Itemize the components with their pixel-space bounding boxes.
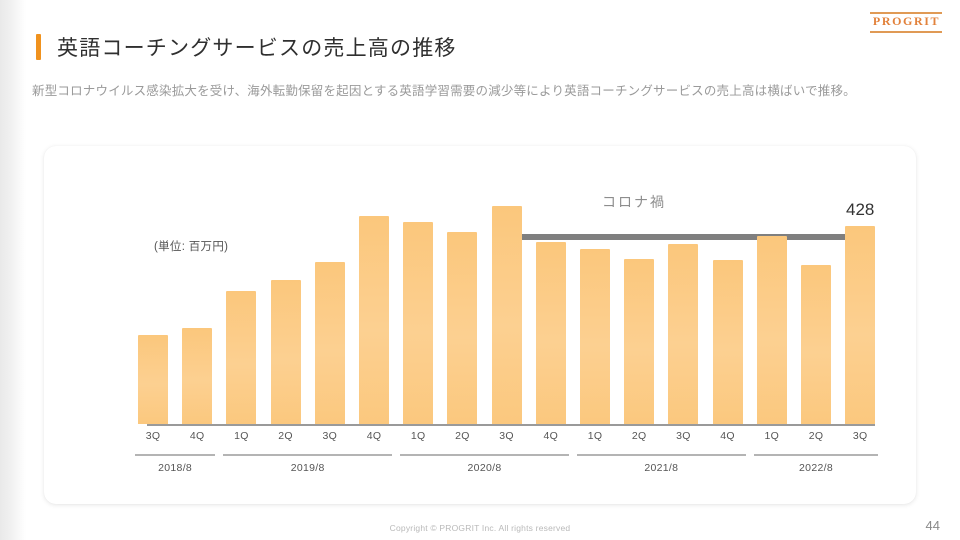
- x-axis-quarter-label: 1Q: [764, 430, 779, 442]
- x-axis-quarter-label: 4Q: [367, 430, 382, 442]
- x-axis-quarter-label: 3Q: [146, 430, 161, 442]
- chart-bar: [182, 328, 212, 424]
- fiscal-year-group-rule: [400, 454, 569, 456]
- x-axis-quarter-label: 2Q: [632, 430, 647, 442]
- x-axis-quarter-label: 3Q: [499, 430, 514, 442]
- sales-bar-chart: (単位: 百万円) コロナ禍 3Q4Q1Q2Q3Q4Q1Q2Q3Q4Q1Q2Q3…: [44, 146, 916, 504]
- x-axis-quarter-label: 3Q: [322, 430, 337, 442]
- chart-bar: [713, 260, 743, 424]
- x-axis-quarter-label: 4Q: [543, 430, 558, 442]
- chart-bar: [447, 232, 477, 424]
- x-axis-quarter-label: 3Q: [853, 430, 868, 442]
- chart-bar: [801, 265, 831, 424]
- fiscal-year-group-rule: [754, 454, 879, 456]
- x-axis-quarter-label: 4Q: [720, 430, 735, 442]
- fiscal-year-group-rule: [577, 454, 746, 456]
- chart-bar: [492, 206, 522, 424]
- chart-bar: [624, 259, 654, 424]
- fiscal-year-group-label: 2019/8: [291, 462, 325, 474]
- chart-bar: [403, 222, 433, 424]
- page-number: 44: [926, 518, 940, 533]
- bar-value-label: 428: [846, 200, 874, 220]
- chart-bar: [226, 291, 256, 424]
- chart-bar: [580, 249, 610, 424]
- logo-rule-bottom: [870, 31, 942, 33]
- chart-bar: [536, 242, 566, 424]
- x-axis-quarter-label: 1Q: [234, 430, 249, 442]
- x-axis-quarter-label: 4Q: [190, 430, 205, 442]
- x-axis-quarter-label: 2Q: [278, 430, 293, 442]
- chart-plot-area: 3Q4Q1Q2Q3Q4Q1Q2Q3Q4Q1Q2Q3Q4Q1Q2Q4283Q201…: [44, 146, 916, 504]
- fiscal-year-group-label: 2022/8: [799, 462, 833, 474]
- page-title-row: 英語コーチングサービスの売上高の推移: [36, 32, 457, 62]
- logo-wordmark: PROGRIT: [870, 14, 942, 29]
- page-subtitle: 新型コロナウイルス感染拡大を受け、海外転勤保留を起因とする英語学習需要の減少等に…: [32, 82, 912, 101]
- fiscal-year-group-rule: [223, 454, 392, 456]
- chart-card: (単位: 百万円) コロナ禍 3Q4Q1Q2Q3Q4Q1Q2Q3Q4Q1Q2Q3…: [44, 146, 916, 504]
- footer-copyright: Copyright © PROGRIT Inc. All rights rese…: [390, 523, 571, 533]
- chart-bar: [757, 236, 787, 424]
- chart-bar: [271, 280, 301, 424]
- x-axis-quarter-label: 1Q: [411, 430, 426, 442]
- fiscal-year-group-label: 2020/8: [468, 462, 502, 474]
- chart-bar: [359, 216, 389, 424]
- chart-baseline-axis: [147, 424, 875, 426]
- title-accent-bar: [36, 34, 41, 60]
- chart-bar: [315, 262, 345, 424]
- page-title: 英語コーチングサービスの売上高の推移: [57, 32, 457, 62]
- x-axis-quarter-label: 2Q: [455, 430, 470, 442]
- progrit-logo: PROGRIT: [870, 12, 942, 33]
- x-axis-quarter-label: 1Q: [588, 430, 603, 442]
- fiscal-year-group-label: 2021/8: [644, 462, 678, 474]
- x-axis-quarter-label: 2Q: [809, 430, 824, 442]
- chart-bar: [138, 335, 168, 424]
- chart-bar: [845, 226, 875, 424]
- fiscal-year-group-rule: [135, 454, 215, 456]
- chart-bar: [668, 244, 698, 424]
- left-edge-shading: [0, 0, 26, 540]
- x-axis-quarter-label: 3Q: [676, 430, 691, 442]
- fiscal-year-group-label: 2018/8: [158, 462, 192, 474]
